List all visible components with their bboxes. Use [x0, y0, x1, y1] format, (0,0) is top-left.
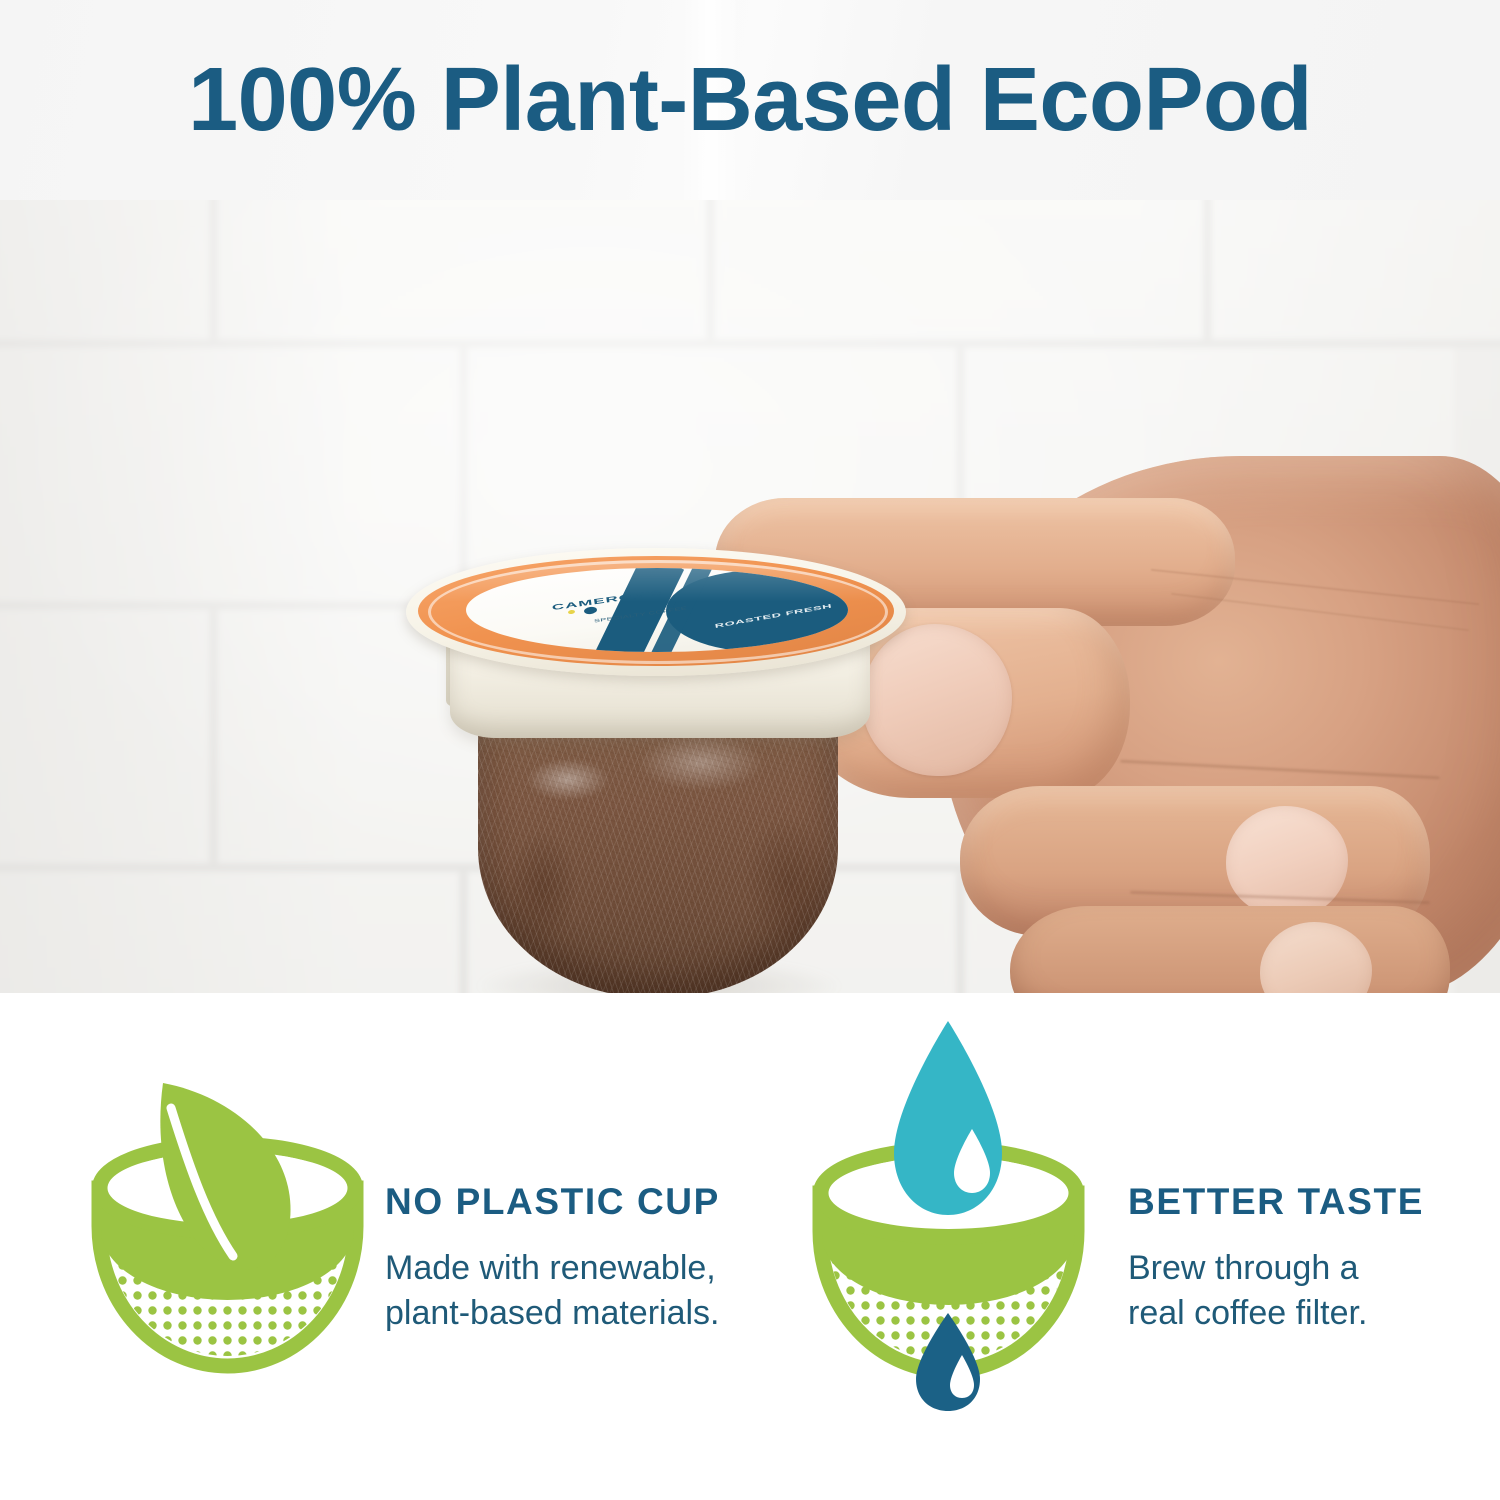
- hero-photo: CAMERON'S SPECIALTY COFFEE ROASTED FRESH: [0, 200, 1500, 993]
- ecopod: CAMERON'S SPECIALTY COFFEE ROASTED FRESH: [378, 358, 1018, 993]
- pod-lid-foil-rim: [428, 560, 888, 664]
- feature-2-text: BETTER TASTE Brew through a real coffee …: [1128, 1183, 1468, 1336]
- page-title: 100% Plant-Based EcoPod: [0, 0, 1500, 200]
- product-infographic: 100% Plant-Based EcoPod: [0, 0, 1500, 1500]
- feature-no-plastic-cup: NO PLASTIC CUP Made with renewable, plan…: [0, 993, 750, 1500]
- feature-2-title: BETTER TASTE: [1128, 1183, 1468, 1220]
- pod-lid: CAMERON'S SPECIALTY COFFEE ROASTED FRESH: [406, 548, 906, 676]
- feature-row: NO PLASTIC CUP Made with renewable, plan…: [0, 993, 1500, 1500]
- pod-fiber-filter: [478, 718, 838, 993]
- water-drop-through-filter-basket-icon: [798, 1013, 1098, 1413]
- feature-2-body-line-1: Brew through a: [1128, 1246, 1468, 1291]
- feature-1-body-line-2: plant-based materials.: [385, 1291, 725, 1336]
- header-band: 100% Plant-Based EcoPod: [0, 0, 1500, 200]
- feature-2-body-line-2: real coffee filter.: [1128, 1291, 1468, 1336]
- feature-1-body-line-1: Made with renewable,: [385, 1246, 725, 1291]
- feature-1-title: NO PLASTIC CUP: [385, 1183, 725, 1220]
- feature-1-text: NO PLASTIC CUP Made with renewable, plan…: [385, 1183, 725, 1336]
- feature-better-taste: BETTER TASTE Brew through a real coffee …: [750, 993, 1500, 1500]
- leaf-in-filter-basket-icon: [85, 1078, 370, 1378]
- feature-1-body: Made with renewable, plant-based materia…: [385, 1246, 725, 1336]
- feature-2-body: Brew through a real coffee filter.: [1128, 1246, 1468, 1336]
- fingernail-middle: [1226, 806, 1348, 918]
